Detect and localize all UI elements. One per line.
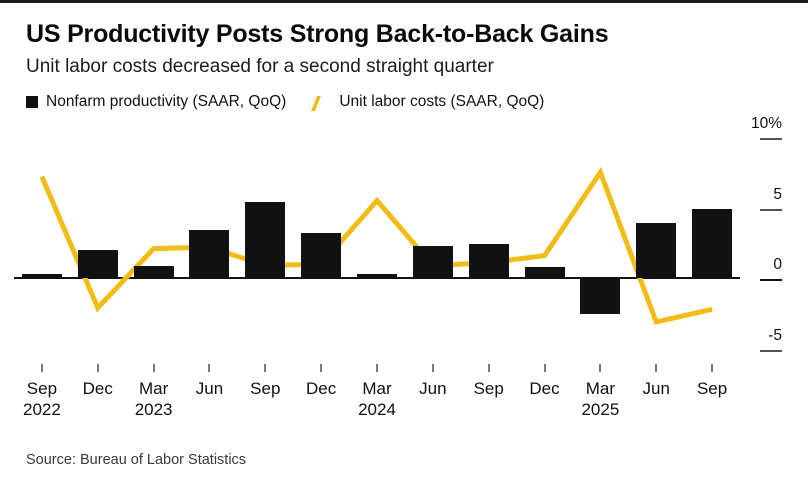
bar-dec-2024: [525, 267, 565, 278]
bar-dec-2023: [301, 233, 341, 278]
x-tick-mark: [599, 364, 601, 372]
y-axis: 10%50-5: [748, 130, 808, 370]
x-tick-year-label: 2022: [12, 399, 72, 420]
y-tick-5: 5: [748, 188, 806, 208]
x-tick-mark: [432, 364, 434, 372]
y-tick-label: -5: [768, 327, 782, 345]
x-tick-month-label: Jun: [626, 378, 686, 399]
x-tick-dec-2024: Dec: [515, 364, 575, 399]
x-tick-mar-2023: Mar2023: [124, 364, 184, 420]
page-subtitle: Unit labor costs decreased for a second …: [26, 56, 494, 78]
chart-container: US Productivity Posts Strong Back-to-Bac…: [0, 0, 808, 484]
legend-item-nonfarm-productivity: Nonfarm productivity (SAAR, QoQ): [26, 93, 286, 111]
x-tick-dec-2022: Dec: [68, 364, 128, 399]
bar-sep-2024: [469, 244, 509, 278]
y-tick-mark: [760, 350, 782, 352]
y-tick-neg5: -5: [748, 329, 806, 349]
x-tick-month-label: Jun: [179, 378, 239, 399]
plot-area: [14, 130, 740, 370]
x-tick-mark: [97, 364, 99, 372]
bar-mar-2024: [357, 274, 397, 278]
y-tick-mark: [760, 209, 782, 211]
x-tick-mark: [264, 364, 266, 372]
x-tick-jun-2025: Jun: [626, 364, 686, 399]
chart-legend: Nonfarm productivity (SAAR, QoQ) Unit la…: [26, 93, 544, 111]
legend-line-icon: [312, 95, 332, 109]
x-tick-month-label: Sep: [459, 378, 519, 399]
bar-jun-2024: [413, 246, 453, 278]
x-tick-mark: [655, 364, 657, 372]
x-tick-month-label: Dec: [291, 378, 351, 399]
y-tick-label: 10%: [751, 115, 782, 133]
x-tick-jun-2023: Jun: [179, 364, 239, 399]
bar-dec-2022: [78, 250, 118, 278]
page-title: US Productivity Posts Strong Back-to-Bac…: [26, 20, 608, 49]
y-tick-mark: [760, 138, 782, 140]
x-tick-mark: [711, 364, 713, 372]
legend-label-nonfarm-productivity: Nonfarm productivity (SAAR, QoQ): [46, 93, 286, 111]
x-tick-month-label: Dec: [515, 378, 575, 399]
bar-mar-2025: [580, 278, 620, 313]
x-tick-sep-2023: Sep: [235, 364, 295, 399]
x-tick-month-label: Mar: [347, 378, 407, 399]
x-tick-month-label: Sep: [12, 378, 72, 399]
y-tick-0: 0: [748, 258, 806, 278]
x-tick-mark: [41, 364, 43, 372]
x-tick-jun-2024: Jun: [403, 364, 463, 399]
x-tick-mar-2024: Mar2024: [347, 364, 407, 420]
x-tick-mark: [208, 364, 210, 372]
bar-jun-2023: [189, 230, 229, 278]
x-axis: Sep2022DecMar2023JunSepDecMar2024JunSepD…: [14, 364, 740, 434]
x-tick-month-label: Sep: [235, 378, 295, 399]
unit-labor-costs-line: [14, 130, 740, 370]
y-tick-label: 5: [773, 186, 782, 204]
bar-sep-2022: [22, 274, 62, 278]
x-tick-year-label: 2024: [347, 399, 407, 420]
bar-jun-2025: [636, 223, 676, 278]
x-tick-month-label: Mar: [570, 378, 630, 399]
legend-square-icon: [26, 96, 38, 108]
x-tick-month-label: Jun: [403, 378, 463, 399]
bar-mar-2023: [134, 266, 174, 279]
x-tick-year-label: 2023: [124, 399, 184, 420]
x-tick-dec-2023: Dec: [291, 364, 351, 399]
x-tick-mar-2025: Mar2025: [570, 364, 630, 420]
x-tick-sep-2024: Sep: [459, 364, 519, 399]
y-tick-10pct: 10%: [748, 117, 806, 137]
x-tick-month-label: Dec: [68, 378, 128, 399]
y-tick-mark: [760, 279, 782, 281]
source-note: Source: Bureau of Labor Statistics: [26, 452, 246, 468]
x-tick-mark: [488, 364, 490, 372]
x-tick-sep-2025: Sep: [682, 364, 742, 399]
x-tick-mark: [544, 364, 546, 372]
legend-label-unit-labor-costs: Unit labor costs (SAAR, QoQ): [339, 93, 544, 111]
x-tick-month-label: Mar: [124, 378, 184, 399]
bar-sep-2025: [692, 209, 732, 278]
y-tick-label: 0: [773, 256, 782, 274]
legend-item-unit-labor-costs: Unit labor costs (SAAR, QoQ): [312, 93, 544, 111]
x-tick-sep-2022: Sep2022: [12, 364, 72, 420]
x-tick-month-label: Sep: [682, 378, 742, 399]
x-tick-year-label: 2025: [570, 399, 630, 420]
x-tick-mark: [153, 364, 155, 372]
x-tick-mark: [320, 364, 322, 372]
x-tick-mark: [376, 364, 378, 372]
bar-sep-2023: [245, 202, 285, 278]
